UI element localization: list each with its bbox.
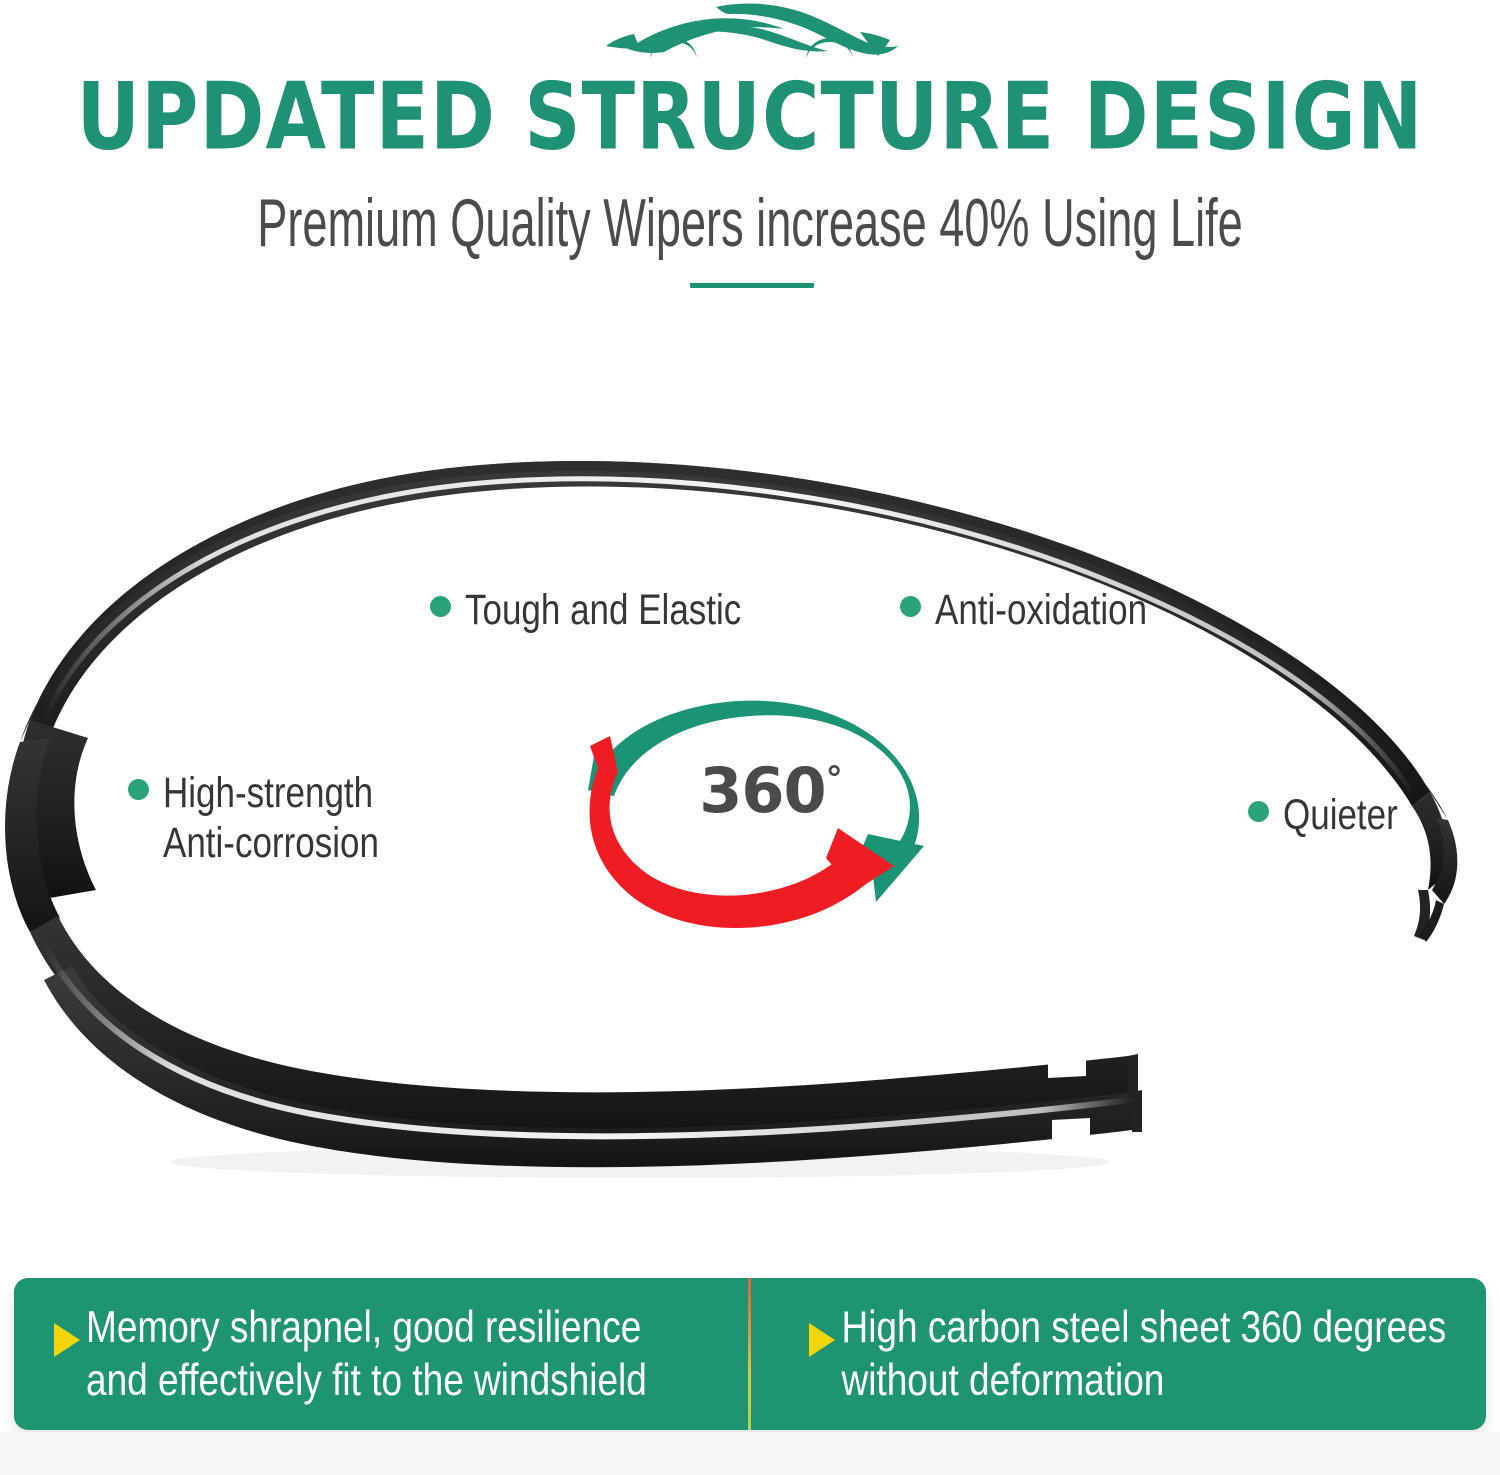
badge-360-label: 360° <box>576 754 966 827</box>
callout-label: Quieter <box>1283 790 1398 840</box>
callout-anti-oxidation: Anti-oxidation <box>900 585 1147 626</box>
feature-banner: Memory shrapnel, good resilience and eff… <box>14 1278 1486 1430</box>
banner-text: High carbon steel sheet 360 degrees with… <box>841 1301 1446 1407</box>
callout-high-strength-anti-corrosion: High-strength Anti-corrosion <box>128 768 379 850</box>
badge-value: 360 <box>699 754 825 827</box>
page-title: UPDATED STRUCTURE DESIGN <box>0 62 1500 171</box>
callout-quieter: Quieter <box>1248 790 1398 831</box>
banner-panel-high-carbon-steel: High carbon steel sheet 360 degrees with… <box>751 1278 1486 1430</box>
bullet-dot-icon <box>900 596 921 617</box>
triangle-right-icon <box>809 1323 835 1357</box>
triangle-right-icon <box>54 1323 80 1357</box>
callout-label: High-strength Anti-corrosion <box>163 768 379 868</box>
page-footer-strip <box>0 1432 1500 1475</box>
callout-tough-and-elastic: Tough and Elastic <box>430 585 741 626</box>
bullet-dot-icon <box>430 596 451 617</box>
car-silhouette-icon <box>598 2 902 64</box>
banner-panel-memory-shrapnel: Memory shrapnel, good resilience and eff… <box>14 1278 748 1430</box>
title-underline-divider <box>690 283 814 288</box>
bullet-dot-icon <box>1248 801 1269 822</box>
badge-degree-symbol: ° <box>826 759 843 799</box>
banner-text: Memory shrapnel, good resilience and eff… <box>86 1301 647 1407</box>
bullet-dot-icon <box>128 779 149 800</box>
infographic-page: UPDATED STRUCTURE DESIGN Premium Quality… <box>0 0 1500 1475</box>
page-subtitle: Premium Quality Wipers increase 40% Usin… <box>30 182 1470 262</box>
rotation-360-icon: 360° <box>576 694 966 940</box>
callout-label: Anti-oxidation <box>935 585 1147 635</box>
callout-label: Tough and Elastic <box>465 585 741 635</box>
